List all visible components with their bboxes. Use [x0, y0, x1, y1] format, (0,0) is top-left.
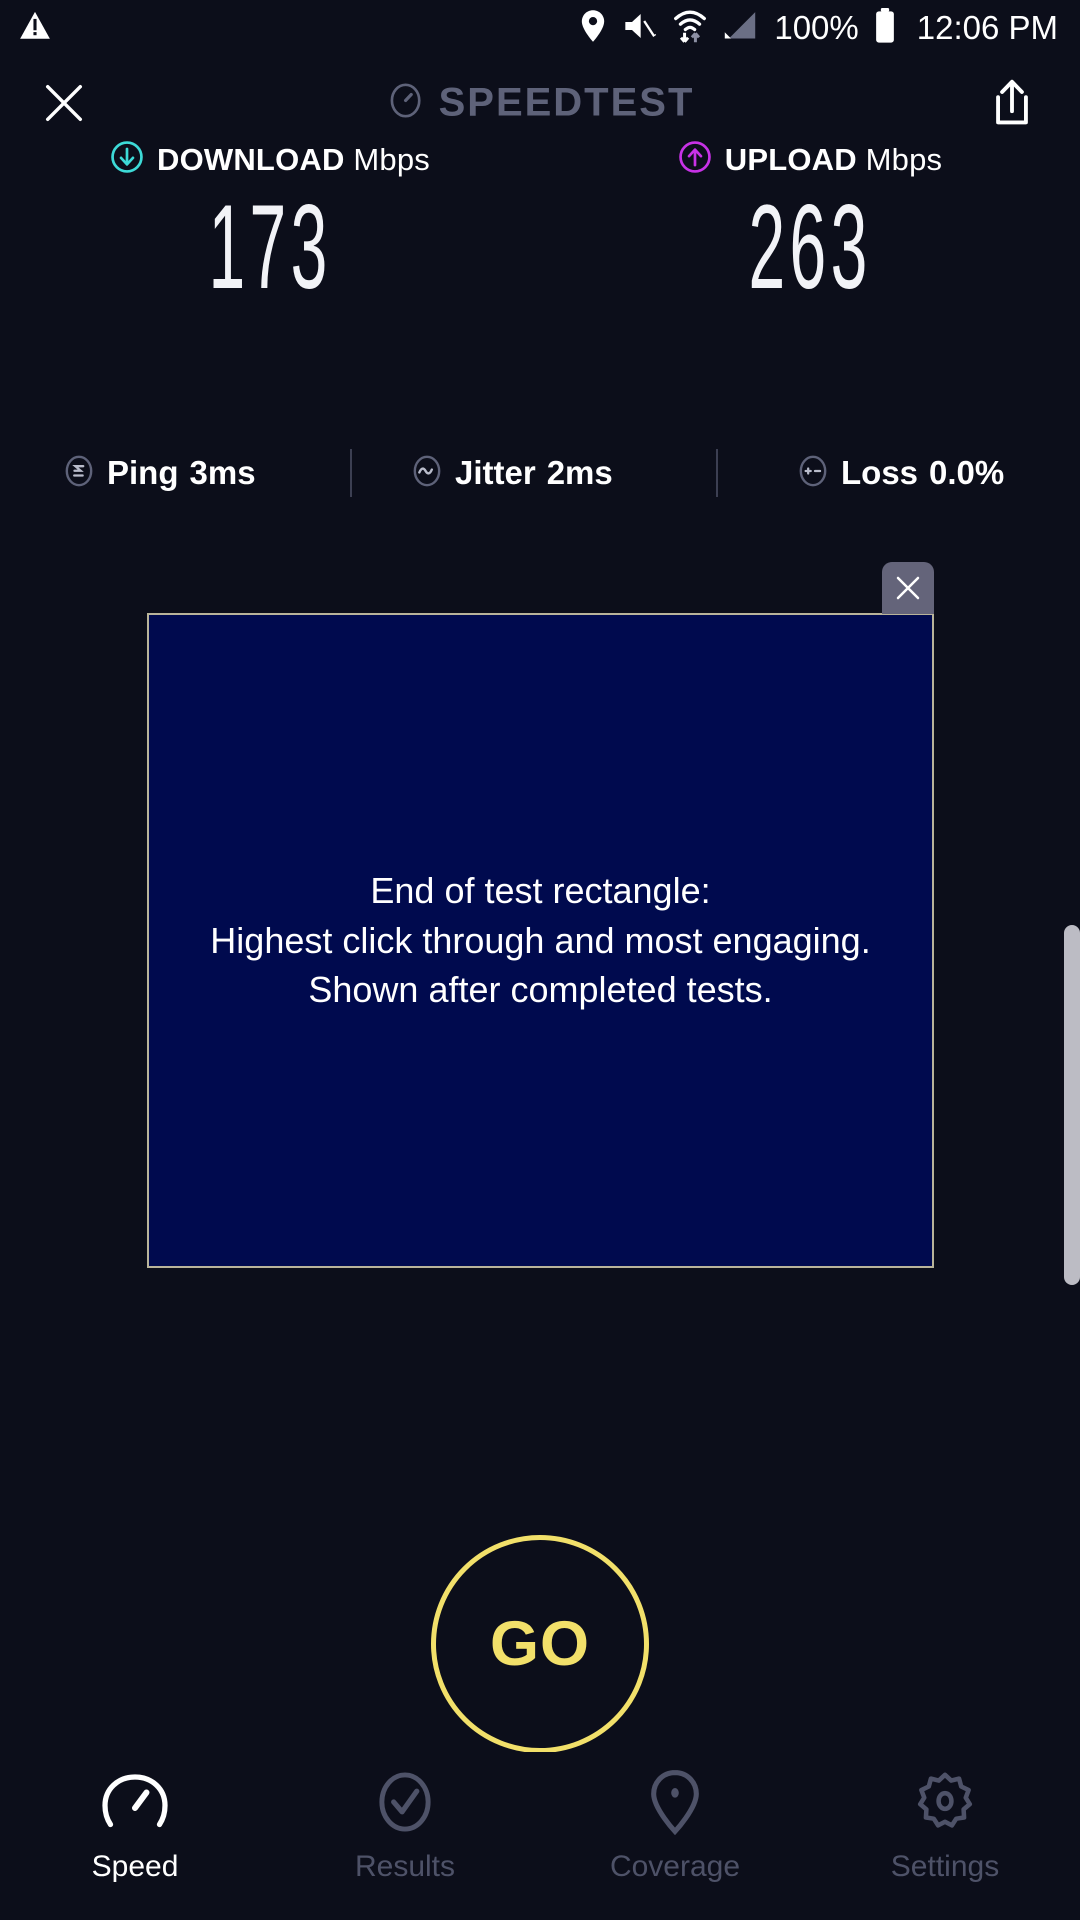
- ad-close-x-icon: [893, 573, 923, 603]
- nav-item-results[interactable]: Results: [270, 1752, 540, 1884]
- map-pin-icon: [649, 1766, 701, 1838]
- go-button[interactable]: GO: [431, 1535, 649, 1753]
- nav-item-settings[interactable]: Settings: [810, 1752, 1080, 1884]
- nav-item-coverage[interactable]: Coverage: [540, 1752, 810, 1884]
- upload-label-row: UPLOAD Mbps: [678, 140, 943, 179]
- jitter-value: 2ms: [547, 454, 613, 492]
- metrics-row: Ping 3ms Jitter 2ms: [0, 445, 1080, 501]
- close-x-icon[interactable]: [36, 75, 92, 131]
- status-bar: 100% 12:06 PM: [0, 0, 1080, 56]
- metric-loss: Loss 0.0%: [796, 454, 1004, 493]
- download-label-unit: Mbps: [353, 142, 430, 177]
- nav-label-coverage: Coverage: [610, 1850, 740, 1884]
- speedtest-gauge-icon: [386, 81, 426, 126]
- download-value: 173: [208, 187, 331, 307]
- page-title: SPEEDTEST: [439, 81, 695, 126]
- results-panel: DOWNLOAD Mbps 173 UPLOAD Mbps: [0, 140, 1080, 307]
- upload-arrow-circle-icon: [678, 140, 712, 179]
- volume-muted-icon: [622, 10, 658, 47]
- status-bar-clock: 12:06 PM: [917, 9, 1058, 47]
- nav-label-results: Results: [355, 1850, 455, 1884]
- ad-close-button[interactable]: [882, 562, 934, 614]
- metric-jitter: Jitter 2ms: [410, 454, 613, 493]
- download-label-row: DOWNLOAD Mbps: [110, 140, 430, 179]
- upload-value: 263: [748, 187, 871, 307]
- download-result: DOWNLOAD Mbps 173: [0, 140, 540, 307]
- upload-result: UPLOAD Mbps 263: [540, 140, 1080, 307]
- speedtest-app-screen: 100% 12:06 PM SPEEDTEST: [0, 0, 1080, 1920]
- metric-divider-2: [716, 449, 718, 497]
- download-label: DOWNLOAD Mbps: [157, 142, 430, 178]
- metric-ping: Ping 3ms: [62, 454, 256, 493]
- loss-label: Loss: [841, 454, 918, 492]
- ping-label: Ping: [107, 454, 179, 492]
- loss-value: 0.0%: [929, 454, 1004, 492]
- ad-body-text: End of test rectangle: Highest click thr…: [200, 866, 880, 1015]
- metric-divider-1: [350, 449, 352, 497]
- ad-scrollbar[interactable]: [1064, 925, 1080, 1285]
- ping-icon: [62, 454, 96, 493]
- download-upload-row: DOWNLOAD Mbps 173 UPLOAD Mbps: [0, 140, 1080, 307]
- battery-full-icon: [873, 8, 897, 49]
- bottom-navigation-bar: Speed Results Coverage: [0, 1752, 1080, 1920]
- go-button-label: GO: [490, 1608, 590, 1680]
- status-bar-right: 100% 12:06 PM: [578, 7, 1058, 50]
- nav-label-speed: Speed: [92, 1850, 179, 1884]
- upload-label-strong: UPLOAD: [725, 142, 857, 177]
- share-upload-icon[interactable]: [984, 75, 1040, 131]
- location-pin-icon: [578, 9, 608, 48]
- jitter-label: Jitter: [455, 454, 536, 492]
- ping-value: 3ms: [190, 454, 256, 492]
- wifi-transfer-icon: [672, 7, 708, 50]
- nav-item-speed[interactable]: Speed: [0, 1752, 270, 1884]
- app-header: SPEEDTEST: [0, 58, 1080, 148]
- check-circle-icon: [375, 1766, 435, 1838]
- download-label-strong: DOWNLOAD: [157, 142, 345, 177]
- app-title-group: SPEEDTEST: [386, 81, 695, 126]
- warning-triangle-icon: [18, 9, 52, 48]
- speedometer-icon: [102, 1766, 168, 1838]
- download-arrow-circle-icon: [110, 140, 144, 179]
- upload-label: UPLOAD Mbps: [725, 142, 943, 178]
- gear-icon: [914, 1766, 976, 1838]
- jitter-icon: [410, 454, 444, 493]
- cellular-signal-icon: [722, 9, 758, 48]
- advertisement-banner[interactable]: End of test rectangle: Highest click thr…: [147, 613, 934, 1268]
- upload-label-unit: Mbps: [866, 142, 943, 177]
- nav-label-settings: Settings: [891, 1850, 999, 1884]
- status-bar-left: [18, 9, 52, 48]
- loss-icon: [796, 454, 830, 493]
- battery-percent-label: 100%: [774, 9, 858, 47]
